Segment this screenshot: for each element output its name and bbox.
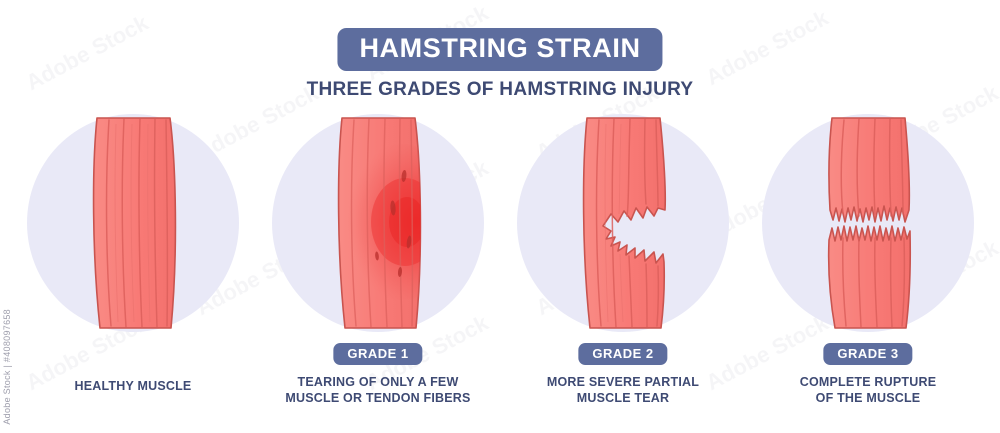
- page-title-badge: HAMSTRING STRAIN: [337, 28, 662, 71]
- infographic-canvas: Adobe Stock Adobe Stock Adobe Stock Adob…: [0, 0, 1000, 433]
- grade-badge-label: GRADE 1: [347, 347, 408, 360]
- watermark-tile: Adobe Stock: [22, 10, 153, 96]
- illustration-grade-1: [253, 104, 503, 342]
- grade-2-muscle-svg: [498, 104, 748, 342]
- grade-1-muscle-svg: [253, 104, 503, 342]
- healthy-muscle-svg: [8, 104, 258, 342]
- panel-grade-2: GRADE 2 MORE SEVERE PARTIAL MUSCLE TEAR: [498, 104, 748, 342]
- panel-healthy: HEALTHY MUSCLE: [8, 104, 258, 342]
- illustration-healthy-muscle: [8, 104, 258, 342]
- grade-badge: GRADE 1: [333, 343, 422, 365]
- panel-grade-3: GRADE 3 COMPLETE RUPTURE OF THE MUSCLE: [743, 104, 993, 342]
- grade-badge: GRADE 2: [578, 343, 667, 365]
- panel-caption: MORE SEVERE PARTIAL MUSCLE TEAR: [503, 374, 743, 406]
- grade-3-muscle-svg: [743, 104, 993, 342]
- grade-badge-label: GRADE 2: [592, 347, 653, 360]
- page-title: HAMSTRING STRAIN: [359, 35, 640, 62]
- panel-caption: HEALTHY MUSCLE: [13, 378, 253, 394]
- illustration-grade-2: [498, 104, 748, 342]
- lower-muscle-segment: [829, 226, 911, 328]
- panel-grade-1: GRADE 1 TEARING OF ONLY A FEW MUSCLE OR …: [253, 104, 503, 342]
- illustration-grade-3: [743, 104, 993, 342]
- watermark-tile: Adobe Stock: [702, 5, 833, 91]
- panel-caption: COMPLETE RUPTURE OF THE MUSCLE: [748, 374, 988, 406]
- panel-caption: TEARING OF ONLY A FEW MUSCLE OR TENDON F…: [258, 374, 498, 406]
- page-subtitle: THREE GRADES OF HAMSTRING INJURY: [307, 79, 694, 101]
- grade-badge-label: GRADE 3: [837, 347, 898, 360]
- watermark-attribution: Adobe Stock | #408097658: [2, 309, 12, 425]
- grade-badge: GRADE 3: [823, 343, 912, 365]
